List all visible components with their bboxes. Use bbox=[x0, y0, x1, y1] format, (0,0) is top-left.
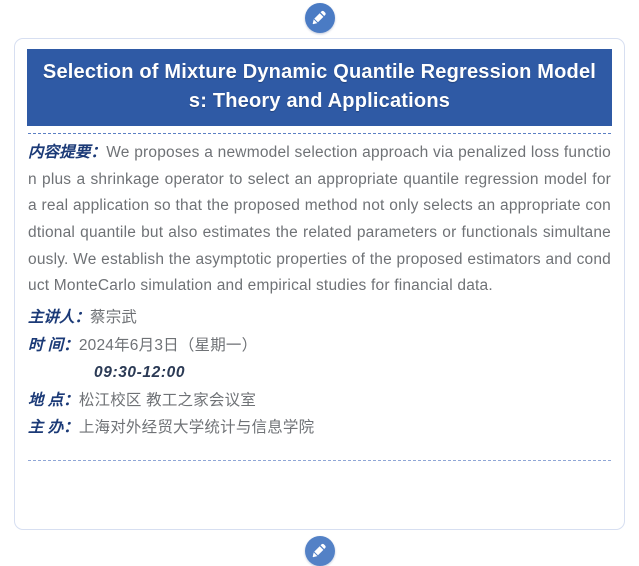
host-label: 主 办： bbox=[28, 419, 79, 436]
venue-row: 地 点：松江校区 教工之家会议室 bbox=[28, 387, 611, 415]
footer-divider bbox=[28, 460, 611, 461]
meta-block: 主讲人：蔡宗武 时 间：2024年6月3日（星期一） 09:30-12:00 地… bbox=[28, 304, 611, 442]
venue-label: 地 点： bbox=[28, 392, 79, 409]
speaker-row: 主讲人：蔡宗武 bbox=[28, 304, 611, 332]
time-value: 09:30-12:00 bbox=[28, 359, 611, 387]
venue-value: 松江校区 教工之家会议室 bbox=[79, 392, 256, 409]
date-label: 时 间： bbox=[28, 337, 79, 354]
page-title: Selection of Mixture Dynamic Quantile Re… bbox=[27, 49, 612, 126]
date-value: 2024年6月3日（星期一） bbox=[79, 337, 258, 354]
host-value: 上海对外经贸大学统计与信息学院 bbox=[79, 419, 315, 436]
poster-page: Selection of Mixture Dynamic Quantile Re… bbox=[0, 0, 639, 548]
top-badge-container bbox=[0, 2, 639, 34]
date-row: 时 间：2024年6月3日（星期一） bbox=[28, 332, 611, 360]
speaker-label: 主讲人： bbox=[28, 309, 90, 326]
speaker-value: 蔡宗武 bbox=[90, 309, 137, 326]
bottom-badge-container bbox=[0, 536, 639, 566]
pen-icon bbox=[305, 3, 335, 33]
seminar-card: Selection of Mixture Dynamic Quantile Re… bbox=[14, 38, 625, 530]
abstract-label: 内容提要： bbox=[28, 144, 106, 161]
host-row: 主 办：上海对外经贸大学统计与信息学院 bbox=[28, 414, 611, 442]
abstract-block: 内容提要：We proposes a newmodel selection ap… bbox=[28, 140, 611, 300]
abstract-text: We proposes a newmodel selection approac… bbox=[28, 144, 611, 294]
title-divider bbox=[28, 133, 611, 134]
pen-icon bbox=[305, 536, 335, 566]
